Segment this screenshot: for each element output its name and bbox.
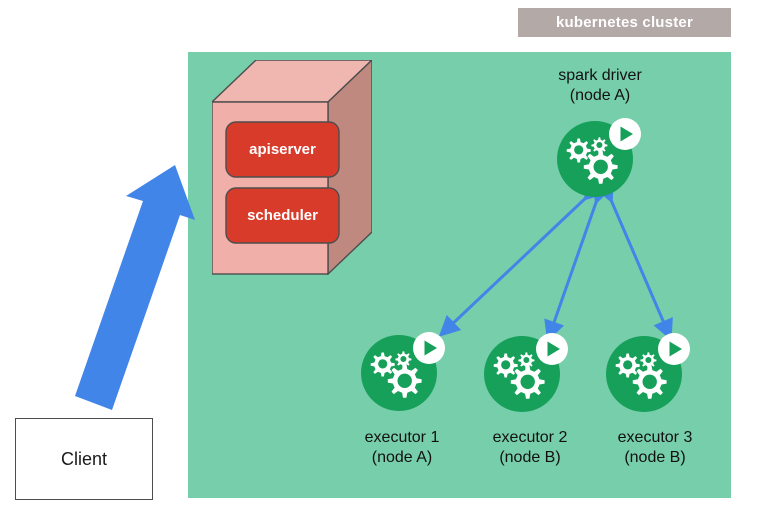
spark-driver-label-line1: spark driver — [505, 66, 695, 86]
scheduler-chip[interactable]: scheduler — [226, 188, 339, 243]
kubernetes-cluster-badge-label: kubernetes cluster — [556, 14, 693, 31]
kubernetes-control-plane-cube: apiserver scheduler — [212, 60, 372, 275]
gears-play-icon — [555, 113, 641, 199]
play-badge-icon — [413, 332, 445, 364]
play-badge-icon — [536, 333, 568, 365]
scheduler-chip-label: scheduler — [247, 207, 318, 224]
cube-component-labels: apiserver scheduler — [212, 60, 372, 275]
play-badge-icon — [609, 118, 641, 150]
executor-3-label-line1: executor 3 — [560, 428, 750, 448]
client-box-label: Client — [61, 449, 107, 470]
executor-3-label: executor 3 (node B) — [560, 428, 750, 468]
spark-submit-arrow-shape — [55, 165, 220, 410]
spark-driver-label: spark driver (node A) — [505, 66, 695, 106]
spark-driver-label-line2: (node A) — [505, 86, 695, 106]
play-badge-icon — [658, 333, 690, 365]
apiserver-chip[interactable]: apiserver — [226, 122, 339, 177]
gears-play-icon — [482, 328, 568, 414]
kubernetes-cluster-badge: kubernetes cluster — [518, 8, 731, 37]
gears-play-icon — [359, 327, 445, 413]
client-box[interactable]: Client — [15, 418, 153, 500]
diagram-canvas: kubernetes cluster apiserver scheduler C… — [0, 0, 761, 516]
executor-3-label-line2: (node B) — [560, 448, 750, 468]
apiserver-chip-label: apiserver — [249, 141, 316, 158]
spark-submit-arrow — [55, 165, 220, 410]
gears-play-icon — [604, 328, 690, 414]
